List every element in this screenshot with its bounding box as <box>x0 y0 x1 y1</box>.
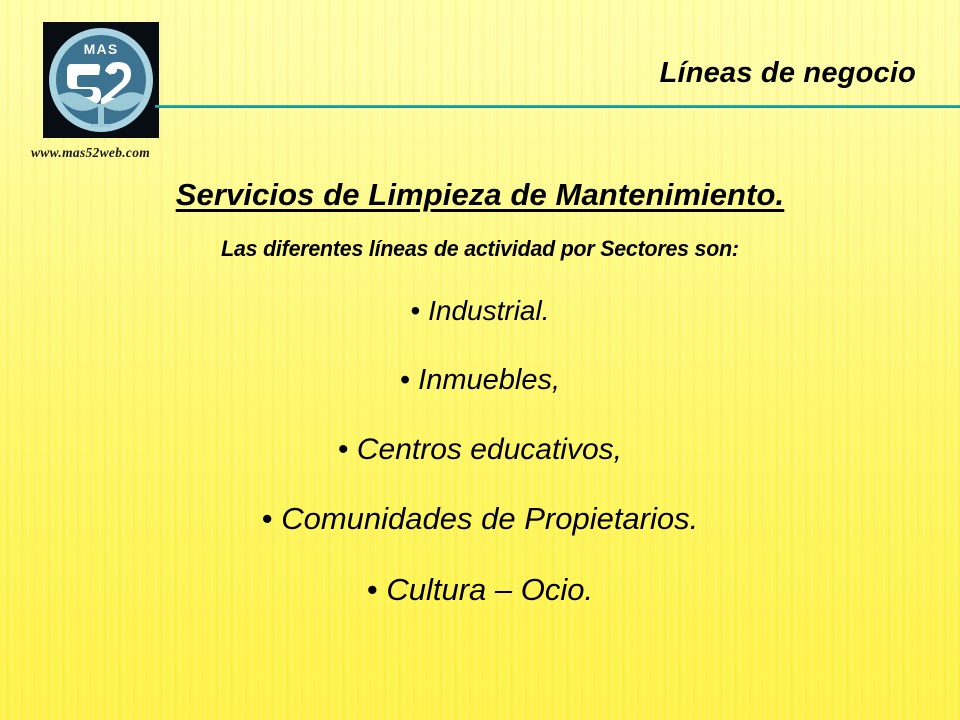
bullet-icon: • <box>262 501 273 536</box>
bullet-icon: • <box>367 572 378 607</box>
bullet-icon: • <box>338 433 349 466</box>
list-item-label: Comunidades de Propietarios. <box>281 501 698 536</box>
slide-content: Servicios de Limpieza de Mantenimiento. … <box>0 176 960 608</box>
mas52-logo-icon: MAS <box>43 22 159 138</box>
list-item: • Cultura – Ocio. <box>0 572 960 608</box>
bullet-icon: • <box>411 295 421 326</box>
list-item: • Inmuebles, <box>0 364 960 397</box>
list-item: • Comunidades de Propietarios. <box>0 501 960 537</box>
business-lines-list: • Industrial. • Inmuebles, • Centros edu… <box>0 295 960 608</box>
list-item-label: Cultura – Ocio. <box>386 572 593 607</box>
bullet-icon: • <box>400 364 410 396</box>
slide-canvas: MAS www.mas52web.com Líneas de negocio S… <box>0 0 960 720</box>
list-item: • Industrial. <box>0 295 960 327</box>
website-url: www.mas52web.com <box>31 145 150 161</box>
list-item-label: Inmuebles, <box>418 364 560 396</box>
page-title: Líneas de negocio <box>660 57 916 90</box>
header-divider <box>155 105 960 108</box>
svg-text:MAS: MAS <box>84 41 119 57</box>
list-item-label: Centros educativos, <box>357 433 622 466</box>
list-item-label: Industrial. <box>428 295 549 326</box>
section-heading: Servicios de Limpieza de Mantenimiento. <box>0 176 960 213</box>
mas52-logo: MAS <box>43 22 159 138</box>
list-item: • Centros educativos, <box>0 433 960 467</box>
section-subheading: Las diferentes líneas de actividad por S… <box>14 236 945 262</box>
